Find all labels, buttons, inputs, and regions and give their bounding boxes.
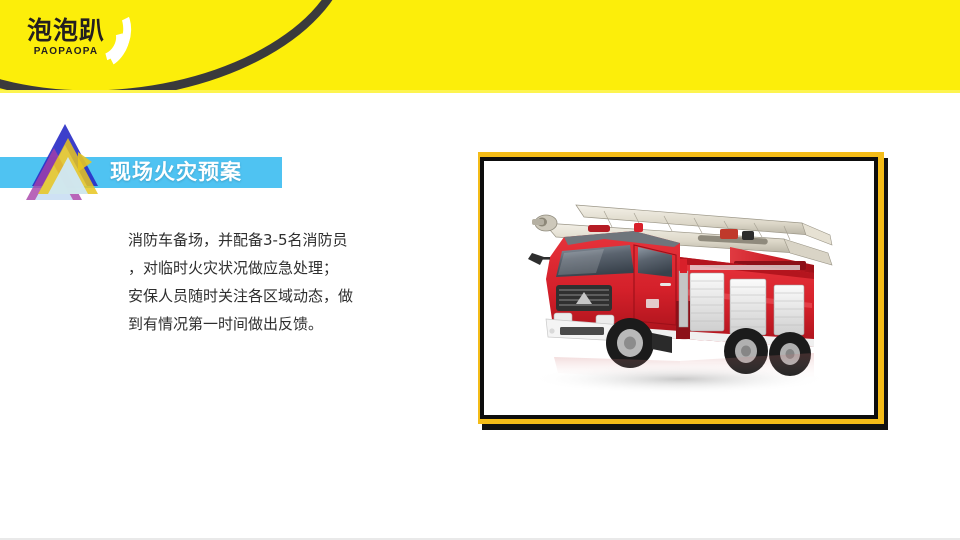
body-line: 安保人员随时关注各区域动态，做 bbox=[128, 282, 396, 310]
header-band: 泡泡趴 PAOPAOPA bbox=[0, 0, 960, 93]
body-line: 消防车备场，并配备3-5名消防员 bbox=[128, 226, 396, 254]
triangles-decoration-icon bbox=[22, 124, 110, 202]
brand-name-en: PAOPAOPA bbox=[16, 47, 116, 57]
arrow-right-icon bbox=[78, 152, 92, 172]
slide-canvas: 泡泡趴 PAOPAOPA 现场火灾预案 消防车备场，并配备3-5名消防员 ，对临… bbox=[0, 0, 960, 540]
body-line: 到有情况第一时间做出反馈。 bbox=[128, 310, 396, 338]
section-title: 现场火灾预案 bbox=[110, 157, 242, 188]
photo-canvas bbox=[484, 161, 874, 415]
fire-truck-image bbox=[484, 161, 874, 415]
body-line: ，对临时火灾状况做应急处理； bbox=[128, 254, 396, 282]
brand-name-cn: 泡泡趴 bbox=[16, 18, 116, 43]
body-paragraph: 消防车备场，并配备3-5名消防员 ，对临时火灾状况做应急处理； 安保人员随时关注… bbox=[128, 226, 396, 338]
brand-logo: 泡泡趴 PAOPAOPA bbox=[16, 18, 116, 57]
photo-frame bbox=[478, 152, 888, 430]
header-band-edge bbox=[0, 90, 960, 93]
